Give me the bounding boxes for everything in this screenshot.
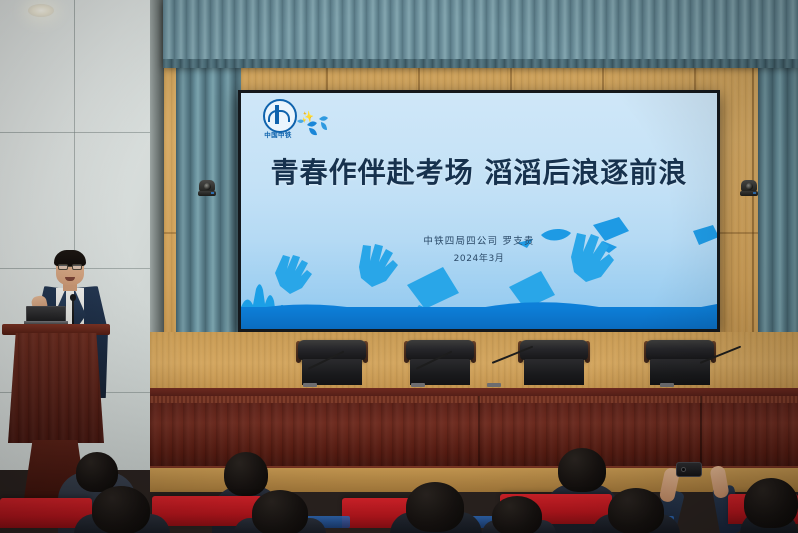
chair-back xyxy=(302,359,362,385)
audience-head xyxy=(224,452,268,496)
table-seam xyxy=(700,396,702,470)
conference-hall-photo: 中国中铁 ✨ 青春作伴赴考场 滔滔后浪逐前浪 中铁四局四公司 罗支贵 2024年… xyxy=(0,0,798,533)
audience-head xyxy=(92,486,150,533)
chair-back xyxy=(410,359,470,385)
bird-flock-icon xyxy=(293,111,335,139)
eyeglasses-bridge xyxy=(68,266,72,267)
wall-panel-line xyxy=(0,132,162,133)
podium-microphone xyxy=(72,298,74,324)
audience-head xyxy=(608,488,664,533)
microphone-base xyxy=(303,383,317,387)
logo-emblem xyxy=(263,99,297,133)
chair-headrest xyxy=(646,340,714,360)
audience-head xyxy=(558,448,606,492)
curtain-valance-hem xyxy=(163,59,798,68)
eyeglasses-icon xyxy=(58,264,68,270)
chair-headrest xyxy=(520,340,588,360)
ptz-camera-right-icon xyxy=(740,180,758,196)
laptop-screen xyxy=(26,306,66,322)
chair-back xyxy=(524,359,584,385)
table-row xyxy=(644,340,716,386)
curtain-valance xyxy=(163,0,798,66)
microphone-base xyxy=(411,383,425,387)
camera-lens xyxy=(746,183,753,190)
slide-presenter: 中铁四局四公司 罗支贵 xyxy=(241,233,717,247)
audience-head xyxy=(252,490,308,533)
podium xyxy=(8,333,104,443)
slide-title: 青春作伴赴考场 滔滔后浪逐前浪 xyxy=(241,151,717,191)
microphone-base xyxy=(660,383,674,387)
table-row xyxy=(404,340,476,386)
table-row xyxy=(296,340,368,386)
podium-microphone-head xyxy=(70,294,76,301)
eyeglasses-icon xyxy=(72,264,82,270)
laptop[interactable] xyxy=(24,306,68,325)
camera-lens xyxy=(204,183,211,190)
audience-head xyxy=(492,496,542,533)
table-seam xyxy=(478,396,480,470)
audience-head xyxy=(76,452,118,492)
microphone-base xyxy=(487,383,501,387)
slide-surface: 中国中铁 ✨ 青春作伴赴考场 滔滔后浪逐前浪 中铁四局四公司 罗支贵 2024年… xyxy=(241,93,717,329)
audience-head xyxy=(744,478,798,528)
camera-led xyxy=(211,192,214,194)
slide-date: 2024年3月 xyxy=(241,251,717,264)
smartphone[interactable] xyxy=(676,462,702,477)
audience-head xyxy=(406,482,464,532)
ptz-camera-left-icon xyxy=(198,180,216,196)
projection-screen: 中国中铁 ✨ 青春作伴赴考场 滔滔后浪逐前浪 中铁四局四公司 罗支贵 2024年… xyxy=(238,90,720,332)
ceiling-light xyxy=(28,4,54,17)
wave-band-graphic xyxy=(241,307,717,329)
camera-led xyxy=(753,192,756,194)
